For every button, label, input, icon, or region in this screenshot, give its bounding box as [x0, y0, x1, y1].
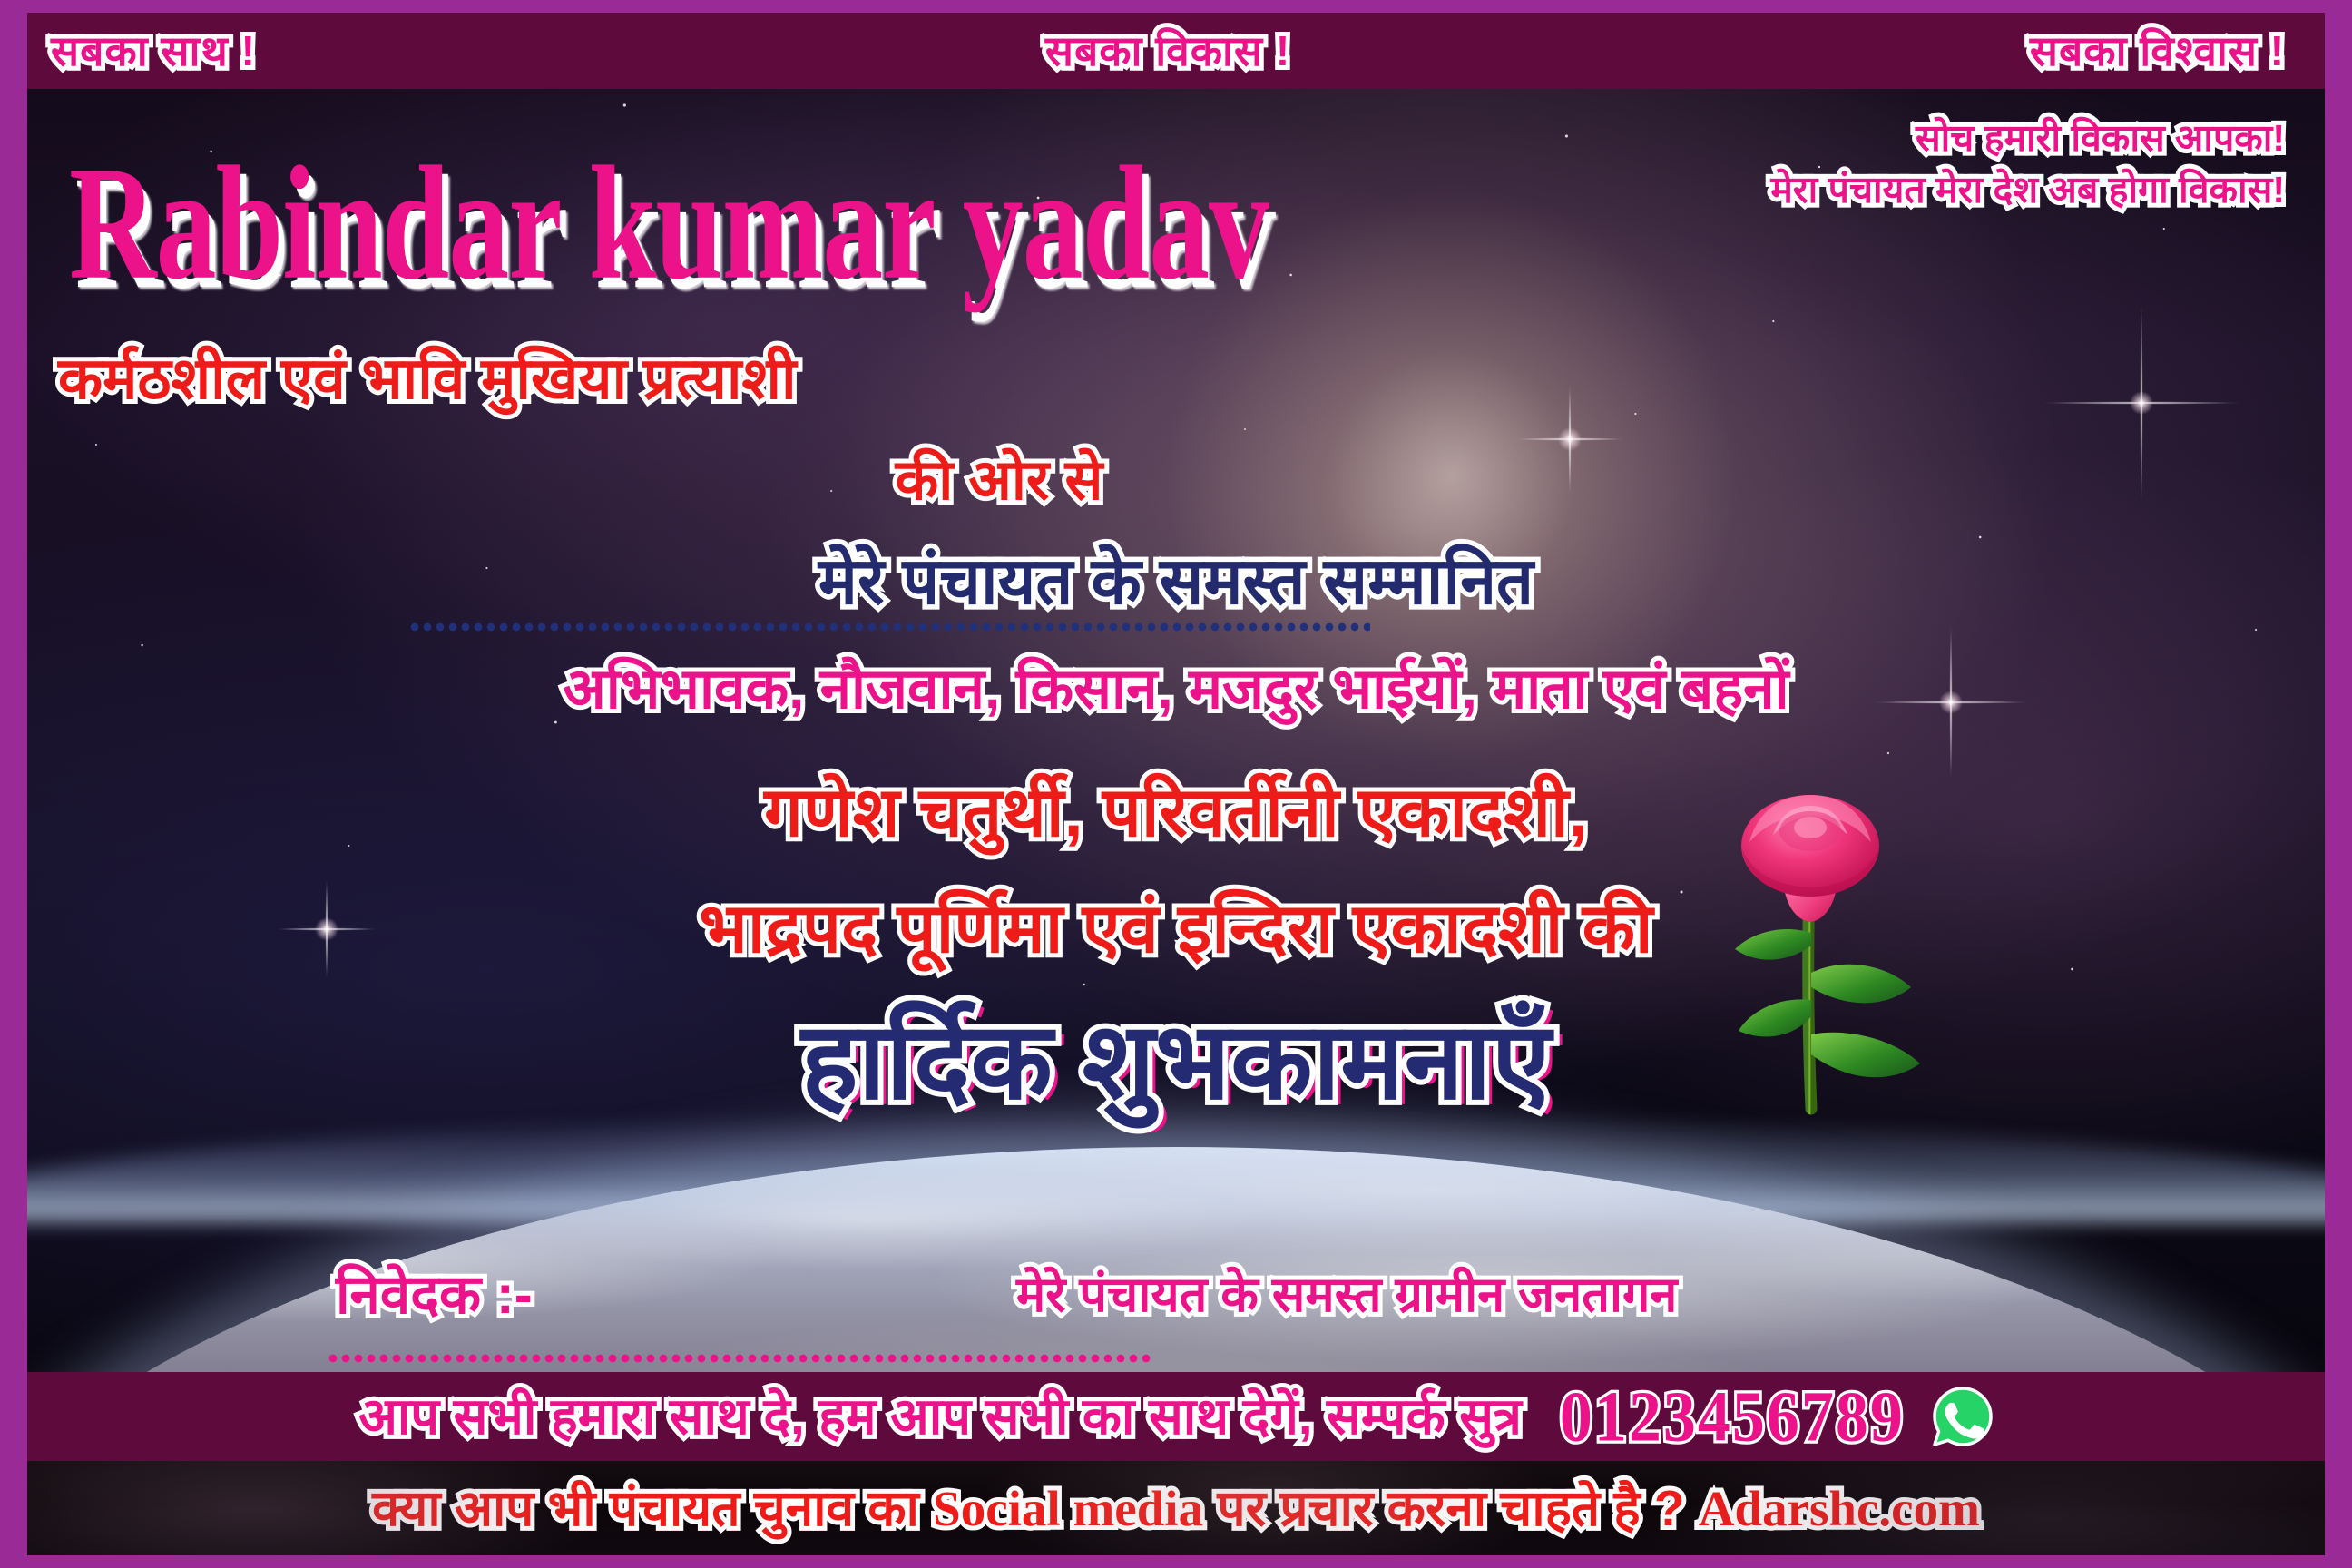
requester-label: निवेदक :- — [336, 1264, 533, 1325]
subtitle-from-line: की ओर से — [27, 448, 2148, 513]
addressee-text-2: अभिभावक, नौजवान, किसान, मजदुर भाईयों, मा… — [563, 658, 1788, 720]
whatsapp-icon[interactable] — [1932, 1386, 1994, 1447]
slogan-sabka-vishwas: सबका विश्वास ! — [2030, 30, 2285, 72]
slogan-sabka-vikas: सबका विकास ! — [1045, 30, 1290, 72]
dotted-rule — [327, 1354, 1152, 1363]
tagline-secondary: मेरा पंचायत मेरा देश अब होगा विकास! — [1770, 171, 2285, 209]
subtitle-role-line: कर्मठशील एवं भावि मुखिया प्रत्याशी — [58, 345, 2325, 412]
festival-line-1: गणेश चतुर्थी, परिवर्तीनी एकादशी, — [27, 773, 2325, 852]
top-slogan-banner: सबका साथ ! सबका विकास ! सबका विश्वास ! — [27, 13, 2325, 89]
promo-prefix-text: क्या आप भी पंचायत चुनाव का — [372, 1480, 933, 1536]
requester-value-line: मेरे पंचायत के समस्त ग्रामीन जनतागन — [1016, 1267, 1677, 1323]
addressee-text-1: मेरे पंचायत के समस्त सम्मानित — [818, 545, 1534, 618]
tagline-primary: सोच हमारी विकास आपका! — [1770, 120, 2285, 157]
greeting-shadow-layer: हार्दिक शुभकामनाएँ — [809, 1013, 1559, 1120]
requester-value: मेरे पंचायत के समस्त ग्रामीन जनतागन — [1016, 1268, 1677, 1322]
footer-promo-line: क्या आप भी पंचायत चुनाव का Social media … — [372, 1484, 1980, 1534]
subtitle-role-text: कर्मठशील एवं भावि मुखिया प्रत्याशी — [58, 346, 797, 411]
footer-appeal-text: आप सभी हमारा साथ दे, हम आप सभी का साथ दे… — [358, 1391, 1522, 1442]
greeting-line: हार्दिक शुभकामनाएँहार्दिक शुभकामनाएँ — [27, 1000, 2325, 1123]
greeting-text: हार्दिक शुभकामनाएँहार्दिक शुभकामनाएँ — [801, 1002, 1551, 1122]
festival-text-2: भाद्रपद पूर्णिमा एवं इन्दिरा एकादशी की — [699, 890, 1652, 967]
poster-frame: सबका साथ ! सबका विकास ! सबका विश्वास ! R… — [27, 13, 2325, 1555]
promo-website-link[interactable]: Adarshc.com — [1699, 1481, 1980, 1536]
contact-phone-number[interactable]: 0123456789 — [1560, 1375, 1905, 1457]
promo-social-text: Social media — [933, 1481, 1203, 1536]
footer-contact-bar: आप सभी हमारा साथ दे, हम आप सभी का साथ दे… — [27, 1372, 2325, 1461]
slogan-sabka-saath: सबका साथ ! — [51, 30, 256, 72]
tagline-block: सोच हमारी विकास आपका! मेरा पंचायत मेरा द… — [1770, 120, 2285, 223]
poster-root: सबका साथ ! सबका विकास ! सबका विश्वास ! R… — [0, 0, 2352, 1568]
subtitle-from-text: की ओर से — [896, 449, 1103, 512]
addressee-line-1: मेरे पंचायत के समस्त सम्मानित — [27, 544, 2325, 619]
festival-text-1: गणेश चतुर्थी, परिवर्तीनी एकादशी, — [764, 774, 1588, 851]
requester-label-line: निवेदक :- — [336, 1263, 533, 1326]
candidate-name-title: Rabindar kumar yadav — [69, 129, 1269, 317]
promo-middle-text: पर प्रचार करना चाहते है ? — [1203, 1480, 1699, 1536]
footer-promo-bar: क्या आप भी पंचायत चुनाव का Social media … — [27, 1461, 2325, 1555]
festival-line-2: भाद्रपद पूर्णिमा एवं इन्दिरा एकादशी की — [27, 889, 2325, 968]
dotted-rule — [408, 622, 1370, 632]
addressee-line-2: अभिभावक, नौजवान, किसान, मजदुर भाईयों, मा… — [27, 657, 2325, 721]
